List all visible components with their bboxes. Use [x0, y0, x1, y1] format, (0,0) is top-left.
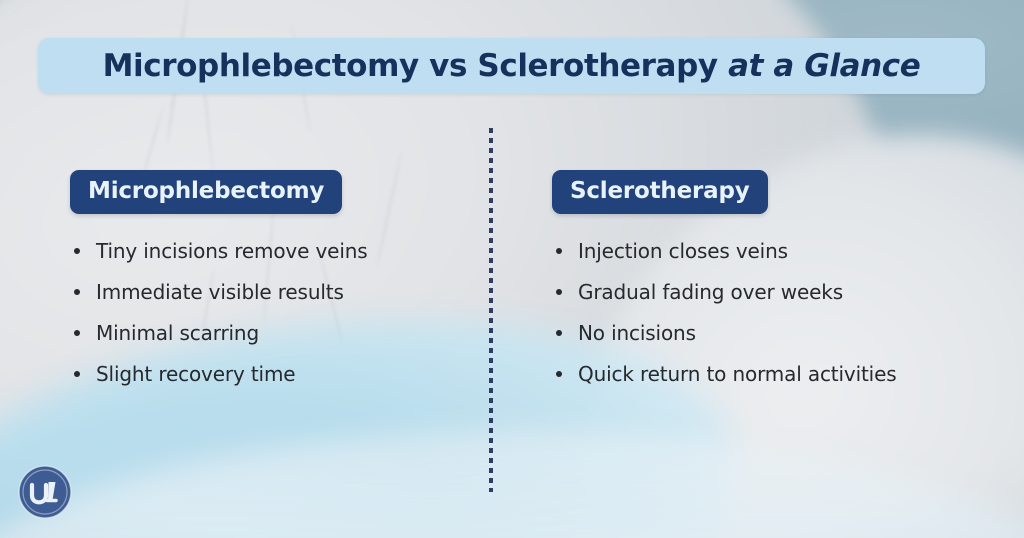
- list-item: No incisions: [552, 322, 992, 345]
- bullet-list-sclerotherapy: Injection closes veins Gradual fading ov…: [552, 240, 992, 386]
- column-sclerotherapy: Sclerotherapy Injection closes veins Gra…: [552, 170, 992, 404]
- list-item: Slight recovery time: [70, 363, 470, 386]
- badge-sclerotherapy: Sclerotherapy: [552, 170, 768, 214]
- page-title: Microphlebectomy vs Sclerotherapy at a G…: [103, 48, 921, 84]
- page-title-main: Microphlebectomy vs Sclerotherapy: [103, 48, 728, 84]
- title-banner: Microphlebectomy vs Sclerotherapy at a G…: [38, 38, 985, 94]
- list-item: Minimal scarring: [70, 322, 470, 345]
- list-item: Tiny incisions remove veins: [70, 240, 470, 263]
- column-microphlebectomy: Microphlebectomy Tiny incisions remove v…: [70, 170, 470, 404]
- column-divider: [489, 128, 493, 492]
- list-item: Immediate visible results: [70, 281, 470, 304]
- badge-microphlebectomy: Microphlebectomy: [70, 170, 342, 214]
- infographic-canvas: Microphlebectomy vs Sclerotherapy at a G…: [0, 0, 1024, 538]
- list-item: Injection closes veins: [552, 240, 992, 263]
- list-item: Gradual fading over weeks: [552, 281, 992, 304]
- brand-logo: [17, 464, 73, 520]
- uv-logo-icon: [17, 464, 73, 520]
- list-item: Quick return to normal activities: [552, 363, 992, 386]
- page-title-emphasis: at a Glance: [728, 48, 920, 84]
- bullet-list-microphlebectomy: Tiny incisions remove veins Immediate vi…: [70, 240, 470, 386]
